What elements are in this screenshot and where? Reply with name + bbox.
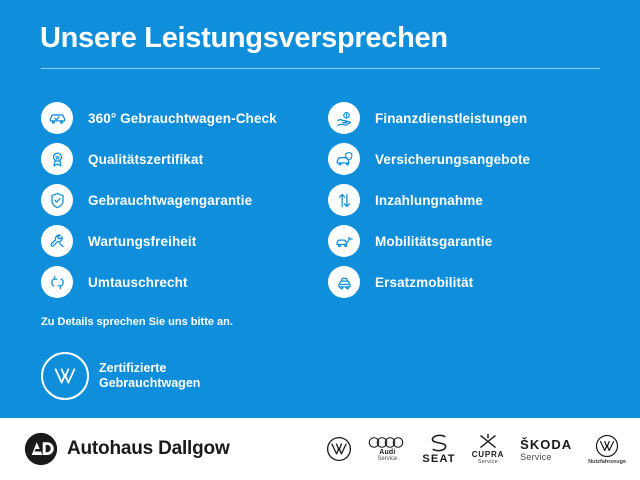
feature-label: Qualitätszertifikat (88, 152, 203, 167)
vw-nutzfahrzeuge-caption: Nutzfahrzeuge (588, 459, 626, 465)
audi-caption: Audi (379, 449, 395, 456)
vw-logo-icon (41, 352, 89, 400)
feature-column-left: 360° Gebrauchtwagen-Check Qualitätszerti… (41, 98, 326, 303)
seat-logo-icon: SEAT (422, 433, 455, 465)
up-down-arrows-icon (328, 184, 360, 216)
cupra-logo-icon: CUPRA Service (472, 433, 504, 465)
dealer-brand: Autohaus Dallgow (24, 432, 230, 466)
footer-bar: Autohaus Dallgow Audi Service (0, 418, 640, 480)
dealer-name: Autohaus Dallgow (67, 438, 230, 460)
certified-label: Zertifizierte Gebrauchtwagen (99, 361, 200, 391)
wrench-icon (41, 225, 73, 257)
feature-label: Umtauschrecht (88, 275, 188, 290)
feature-item: 360° Gebrauchtwagen-Check (41, 98, 326, 138)
certified-used-cars-block: Zertifizierte Gebrauchtwagen (41, 352, 200, 400)
feature-item: Finanzdienstleistungen (328, 98, 608, 138)
feature-item: Ersatzmobilität (328, 262, 608, 302)
vw-nutzfahrzeuge-logo-icon: Nutzfahrzeuge (588, 434, 626, 465)
ad-monogram-icon (24, 432, 58, 466)
feature-item: Versicherungsangebote (328, 139, 608, 179)
cupra-caption: CUPRA (472, 450, 504, 459)
feature-item: Mobilitätsgarantie (328, 221, 608, 261)
feature-item: Gebrauchtwagengarantie (41, 180, 326, 220)
tow-car-icon (328, 225, 360, 257)
car-shield-icon (328, 143, 360, 175)
certified-line-1: Zertifizierte (99, 361, 166, 375)
certified-line-2: Gebrauchtwagen (99, 376, 200, 390)
details-note: Zu Details sprechen Sie uns bitte an. (41, 316, 233, 328)
feature-item: Inzahlungnahme (328, 180, 608, 220)
feature-column-right: Finanzdienstleistungen Versicherungsange… (328, 98, 608, 303)
feature-item: Qualitätszertifikat (41, 139, 326, 179)
feature-label: 360° Gebrauchtwagen-Check (88, 111, 277, 126)
feature-item: Umtauschrecht (41, 262, 326, 302)
exchange-arrows-icon (41, 266, 73, 298)
hand-coin-icon (328, 102, 360, 134)
page-title: Unsere Leistungsversprechen (40, 22, 448, 55)
title-divider (41, 68, 600, 69)
audi-service-caption: Service (377, 456, 397, 462)
brand-logo-strip: Audi Service SEAT CUPRA Service ŠKO (326, 418, 626, 480)
promo-page: Unsere Leistungsversprechen 360° Gebrauc… (0, 0, 640, 480)
feature-label: Finanzdienstleistungen (375, 111, 527, 126)
replacement-car-icon (328, 266, 360, 298)
skoda-caption: ŠKODA (520, 437, 572, 452)
feature-label: Ersatzmobilität (375, 275, 473, 290)
seat-caption: SEAT (422, 453, 455, 465)
award-seal-icon (41, 143, 73, 175)
feature-label: Versicherungsangebote (375, 152, 530, 167)
feature-label: Inzahlungnahme (375, 193, 483, 208)
feature-label: Gebrauchtwagengarantie (88, 193, 252, 208)
vw-logo-icon (326, 436, 352, 462)
feature-label: Wartungsfreiheit (88, 234, 196, 249)
shield-check-icon (41, 184, 73, 216)
feature-item: Wartungsfreiheit (41, 221, 326, 261)
cupra-service-caption: Service (478, 459, 498, 465)
skoda-logo-icon: ŠKODA Service (520, 437, 572, 462)
audi-rings-icon: Audi Service (368, 436, 406, 462)
skoda-service-caption: Service (520, 452, 551, 462)
car-check-icon (41, 102, 73, 134)
feature-label: Mobilitätsgarantie (375, 234, 492, 249)
